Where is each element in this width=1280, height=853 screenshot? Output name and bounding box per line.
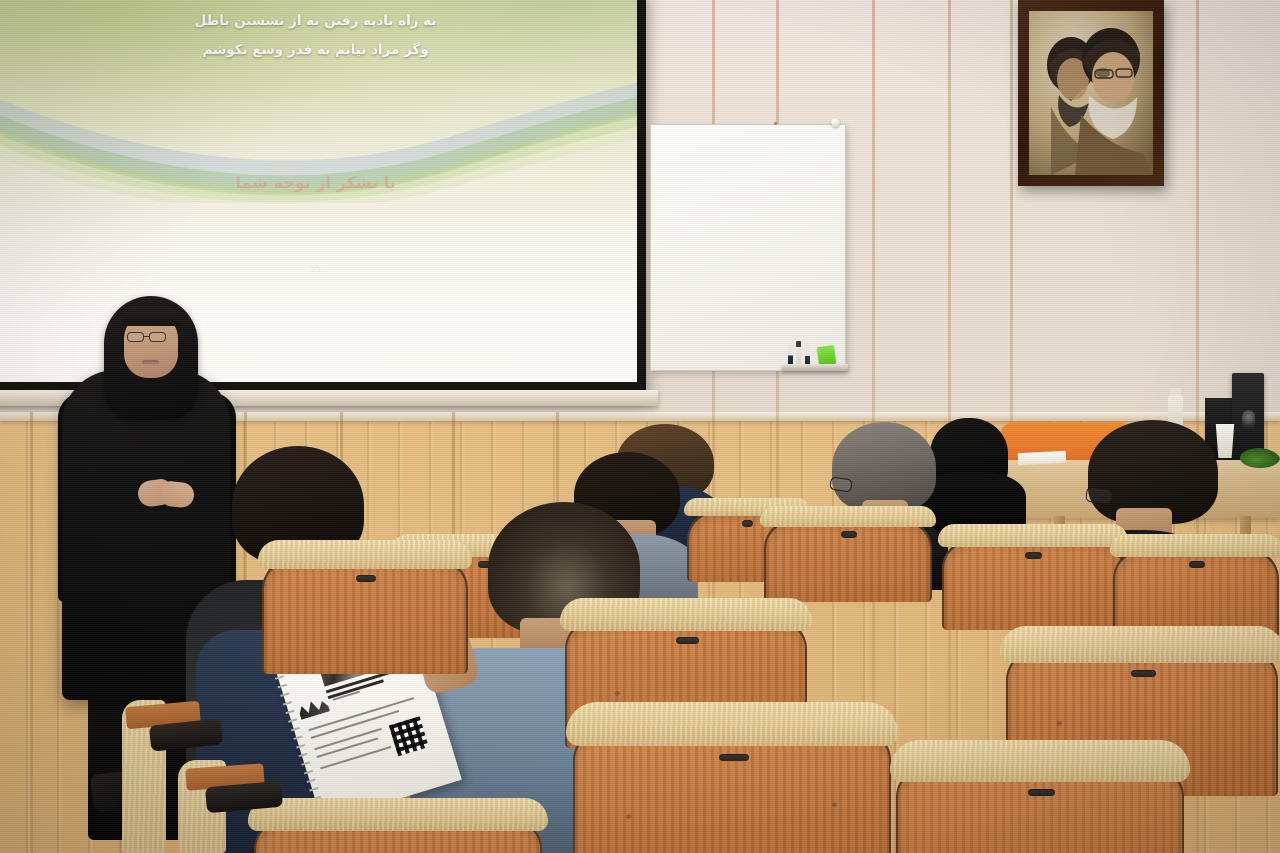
- marker-icon: [796, 341, 801, 365]
- slide-verse-line-1: به راه بادیه رفتن به از نشستن باطل: [0, 13, 637, 29]
- seat-upholstery: [258, 540, 472, 569]
- presenter-hair: [122, 306, 180, 326]
- seat-upholstery: [890, 740, 1190, 782]
- seat: [566, 702, 898, 853]
- seat-handle: [1131, 670, 1157, 677]
- seat-handle: [1025, 552, 1042, 559]
- seat-handle: [1189, 561, 1204, 568]
- seat: [938, 524, 1128, 630]
- seat-stud: [626, 814, 631, 819]
- seat-handle: [1028, 789, 1055, 796]
- projection-screen: به راه بادیه رفتن به از نشستن باطل وگر م…: [0, 0, 646, 394]
- framed-portrait: [1018, 0, 1164, 186]
- slide-thanks-text: با تشکر از توجه شما: [0, 173, 637, 192]
- whiteboard: [650, 124, 846, 371]
- speaker-driver: [1242, 410, 1255, 432]
- portrait-photo: [1029, 11, 1153, 175]
- seat-upholstery: [560, 598, 812, 631]
- whiteboard-tray: [782, 364, 848, 371]
- seat-upholstery: [566, 702, 898, 746]
- booklet-logo: [297, 697, 330, 720]
- seat-upholstery: [248, 798, 548, 831]
- slide-number: 35: [0, 265, 637, 275]
- seat-stud: [832, 802, 837, 807]
- slide-surface: به راه بادیه رفتن به از نشستن باطل وگر م…: [0, 0, 637, 382]
- seat-handle: [676, 637, 699, 644]
- presenter-mouth: [142, 360, 159, 365]
- marker-icon: [805, 345, 810, 365]
- seat-upholstery: [1110, 534, 1280, 557]
- glasses-icon: [1085, 487, 1112, 505]
- booklet-text-line: [320, 746, 391, 769]
- seat-upholstery: [760, 506, 936, 527]
- seat-handle: [742, 520, 753, 527]
- seat: [258, 540, 472, 674]
- booklet-text-line: [317, 737, 379, 757]
- seat-stud: [1057, 721, 1062, 726]
- seat-handle: [841, 531, 857, 538]
- potted-plant: [1240, 448, 1280, 468]
- slide-verse-line-2: وگر مراد نیابم به قدر وسع بکوشم: [0, 42, 637, 58]
- whiteboard-eraser: [817, 345, 836, 366]
- glasses-icon: [149, 332, 166, 342]
- glasses-icon: [127, 332, 144, 342]
- seat-handle: [356, 575, 375, 582]
- seat-back-panel: [573, 730, 892, 853]
- seat: [1110, 534, 1280, 638]
- seminar-photo: به راه بادیه رفتن به از نشستن باطل وگر م…: [0, 0, 1280, 853]
- seat-handle: [719, 754, 749, 761]
- wall-seam: [30, 412, 33, 853]
- seat-upholstery: [1000, 626, 1280, 663]
- marker-icon: [788, 345, 793, 365]
- seat: [760, 506, 936, 602]
- seat: [890, 740, 1190, 853]
- whiteboard-screw: [774, 122, 777, 125]
- documents-on-table: [1018, 451, 1067, 465]
- glasses-bridge: [144, 336, 150, 337]
- whiteboard-mount-knob: [831, 118, 840, 127]
- seat-upholstery: [938, 524, 1128, 547]
- qr-code-icon: [389, 716, 429, 756]
- seat: [248, 798, 548, 853]
